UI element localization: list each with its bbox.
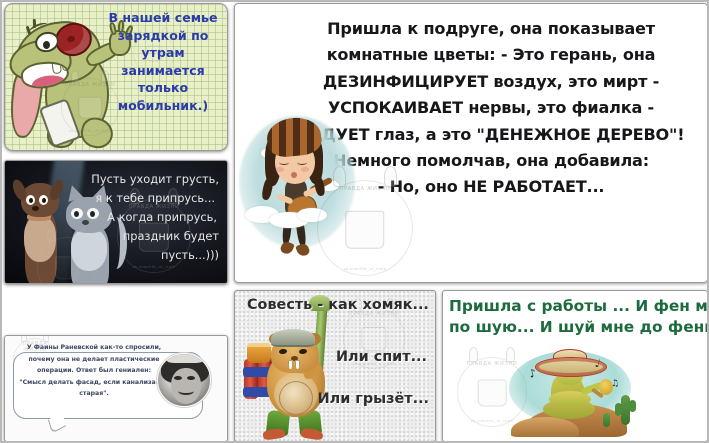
panel-sadness[interactable]: ПРАВДА ЖИЗНИ vk.com/life_of_truth Пусть … bbox=[4, 160, 228, 284]
girl-with-ukulele-illustration bbox=[239, 112, 363, 280]
text-line: В нашей семье bbox=[108, 10, 217, 25]
hamster-tooth-left bbox=[288, 360, 293, 370]
honey-jar bbox=[247, 343, 271, 363]
portrait-eye-left bbox=[174, 376, 182, 380]
bunny-ear-icon bbox=[469, 347, 479, 362]
portrait-face bbox=[171, 368, 201, 404]
text-line: Пришла к подруге, она показывает bbox=[279, 16, 703, 42]
text-line: А когда припрусь, bbox=[77, 208, 219, 227]
panel-money-tree[interactable]: Пришла к подруге, она показывает комнатн… bbox=[234, 3, 708, 283]
panel-conscience[interactable]: ПРАВДА ЖИЗНИ vk.com/life_of_truth bbox=[234, 290, 436, 442]
dog-chest bbox=[24, 216, 56, 262]
cactus-icon-small bbox=[603, 413, 610, 427]
panel-ranevskaya-text: У Фаины Раневской как-то спросили, почем… bbox=[19, 342, 169, 400]
panel-hairdryer[interactable]: Пришла с работы ... И фен мне по шую... … bbox=[442, 290, 708, 442]
hamster-helmet bbox=[271, 329, 315, 347]
bunny-body-icon bbox=[361, 327, 386, 351]
text-line: Совесть - как хомяк... bbox=[247, 297, 429, 313]
panel-dog-exercise[interactable]: ПРАВДА ЖИЗНИ vk.com/life_of_truth В наше… bbox=[4, 3, 228, 151]
bunny-ear-icon bbox=[43, 335, 49, 342]
text-line: пусть...))) bbox=[77, 246, 219, 265]
text-line: я к тебе припрусь... bbox=[77, 189, 219, 208]
motion-line-icon bbox=[33, 19, 36, 28]
dog-tooth bbox=[52, 62, 62, 74]
cloud-icon bbox=[297, 208, 327, 222]
text-line: У Фаины Раневской как-то спросили, bbox=[19, 342, 169, 354]
text-line: Или грызёт... bbox=[318, 391, 429, 407]
image-collage: ПРАВДА ЖИЗНИ vk.com/life_of_truth В наше… bbox=[0, 0, 709, 443]
text-line: Пусть уходит грусть, bbox=[77, 170, 219, 189]
portrait-eye-right bbox=[187, 376, 195, 380]
text-line: почему она не делает пластические bbox=[19, 354, 169, 366]
faina-ranevskaya-portrait bbox=[157, 353, 211, 407]
text-line: "Смысл делать фасад, если канализация ст… bbox=[19, 377, 169, 400]
portrait-smile bbox=[178, 387, 194, 395]
dog-eye-left bbox=[26, 195, 35, 205]
text-line: только bbox=[138, 80, 188, 95]
text-line: мобильник.) bbox=[118, 98, 208, 113]
girl-eye-right bbox=[297, 160, 307, 165]
panel-ranevskaya[interactable]: ПРАВДА ЖИЗНИ У Фаины Раневской как-то сп… bbox=[4, 335, 228, 442]
cactus-arm bbox=[629, 400, 636, 412]
music-note-icon: ♫ bbox=[610, 378, 619, 389]
text-line: Или спит... bbox=[336, 349, 427, 365]
girl-mouth bbox=[291, 172, 297, 178]
panel-dog-exercise-text: В нашей семье зарядкой по утрам занимает… bbox=[105, 9, 221, 114]
text-line: комнатные цветы: - Это герань, она bbox=[279, 42, 703, 68]
panel-sadness-text: Пусть уходит грусть, я к тебе припрусь..… bbox=[77, 170, 219, 265]
hamster-foot-left bbox=[262, 428, 285, 441]
dog-eye-right bbox=[39, 195, 48, 205]
text-line: Пришла с работы ... И фен мне bbox=[449, 296, 703, 317]
dog-nose bbox=[32, 206, 39, 211]
portrait-hat bbox=[167, 353, 203, 363]
text-line: операции. Ответ был гениален: bbox=[19, 365, 169, 377]
mexican-snake-illustration: ♪ ♩ ♫ bbox=[499, 351, 649, 441]
coin-watermark bbox=[279, 381, 313, 415]
text-line: по шую... И шуй мне до фени...) bbox=[449, 317, 703, 338]
text-line: зарядкой bbox=[118, 28, 187, 43]
armed-hamster-illustration bbox=[241, 329, 351, 441]
panel-hairdryer-text: Пришла с работы ... И фен мне по шую... … bbox=[449, 296, 703, 338]
girl-eye-left bbox=[279, 160, 289, 165]
text-line: ДЕЗИНФИЦИРУЕТ воздух, это мирт - bbox=[279, 69, 703, 95]
girl-blush-right bbox=[301, 167, 309, 172]
hamster-tooth-right bbox=[295, 360, 300, 370]
bunny-ear-icon bbox=[21, 335, 27, 342]
text-line: праздник будет bbox=[77, 227, 219, 246]
cactus-arm bbox=[615, 403, 622, 416]
text-line: занимается bbox=[121, 63, 205, 78]
dog-pupil bbox=[43, 41, 50, 49]
girl-blush-left bbox=[276, 167, 284, 172]
